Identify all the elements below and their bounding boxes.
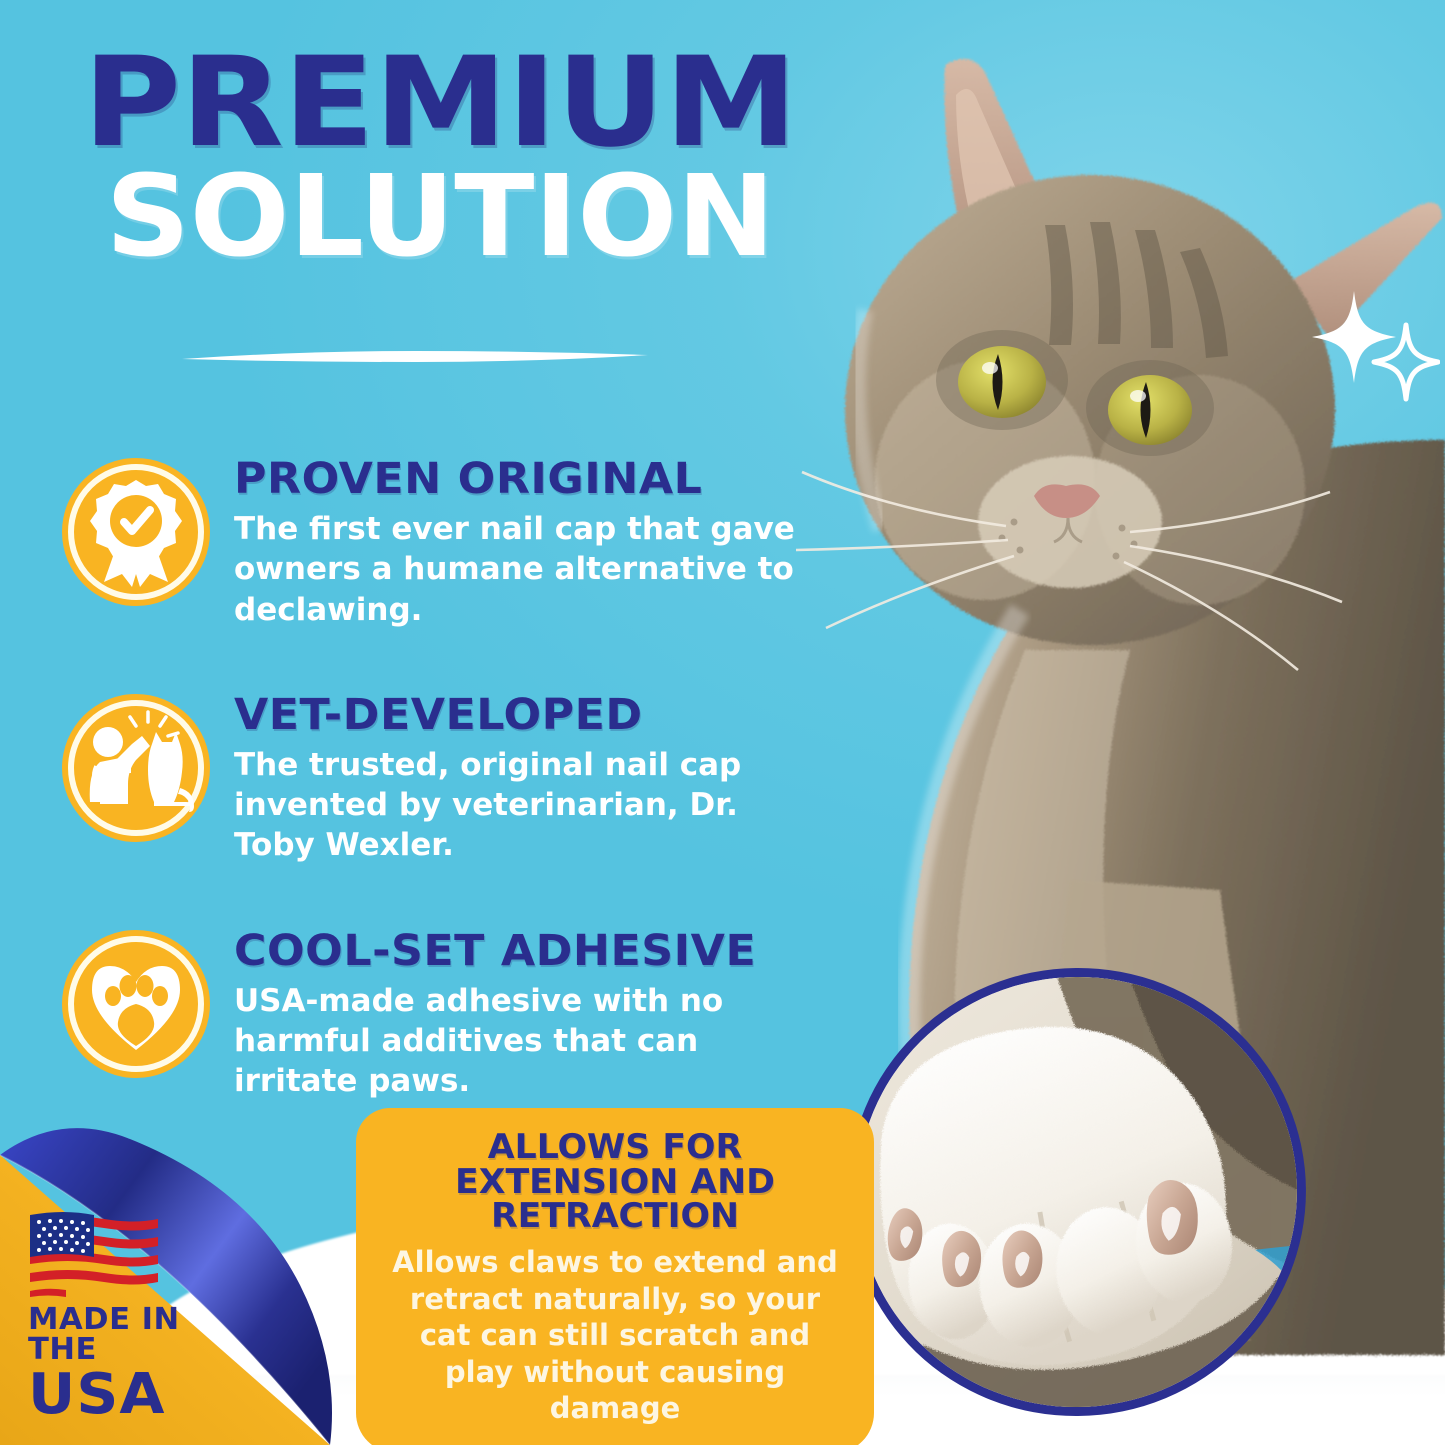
sparkle-star-solid	[1312, 291, 1396, 383]
feature-description: The first ever nail cap that gave owners…	[234, 509, 814, 630]
callout-title: ALLOWS FOR EXTENSION AND RETRACTION	[377, 1130, 852, 1234]
feature-item: COOL-SET ADHESIVE USA-made adhesive with…	[60, 924, 820, 1102]
feature-title: VET-DEVELOPED	[234, 694, 838, 737]
headline: PREMIUM SOLUTION	[40, 46, 840, 269]
award-rosette-check-icon	[60, 456, 212, 608]
product-infographic-poster: PREMIUM SOLUTION	[0, 0, 1445, 1445]
feature-body: VET-DEVELOPED The trusted, original nail…	[234, 688, 820, 866]
made-in-usa-line1: MADE IN THE	[28, 1305, 242, 1365]
paw-closeup-inset	[826, 945, 1328, 1438]
feature-list: PROVEN ORIGINAL The first ever nail cap …	[60, 452, 820, 1102]
feature-title: COOL-SET ADHESIVE	[234, 930, 838, 973]
headline-line-solution: SOLUTION	[20, 166, 860, 269]
feature-body: PROVEN ORIGINAL The first ever nail cap …	[234, 452, 820, 630]
headline-line-premium: PREMIUM	[8, 46, 872, 160]
sparkle-group	[1310, 285, 1440, 405]
feature-description: USA-made adhesive with no harmful additi…	[234, 981, 814, 1102]
heart-paw-icon	[60, 928, 212, 1080]
feature-item: PROVEN ORIGINAL The first ever nail cap …	[60, 452, 820, 630]
feature-body: COOL-SET ADHESIVE USA-made adhesive with…	[234, 924, 820, 1102]
vet-and-cat-icon	[60, 692, 212, 844]
made-in-usa-badge: MADE IN THE USA	[28, 1211, 238, 1423]
callout-box: ALLOWS FOR EXTENSION AND RETRACTION Allo…	[356, 1108, 874, 1445]
callout-description: Allows claws to extend and retract natur…	[382, 1244, 848, 1427]
usa-flag-icon	[28, 1211, 160, 1297]
feature-title: PROVEN ORIGINAL	[234, 458, 838, 501]
feature-item: VET-DEVELOPED The trusted, original nail…	[60, 688, 820, 866]
made-in-usa-line2: USA	[28, 1367, 246, 1423]
feature-description: The trusted, original nail cap invented …	[234, 745, 820, 866]
brush-stroke-divider	[180, 348, 650, 364]
